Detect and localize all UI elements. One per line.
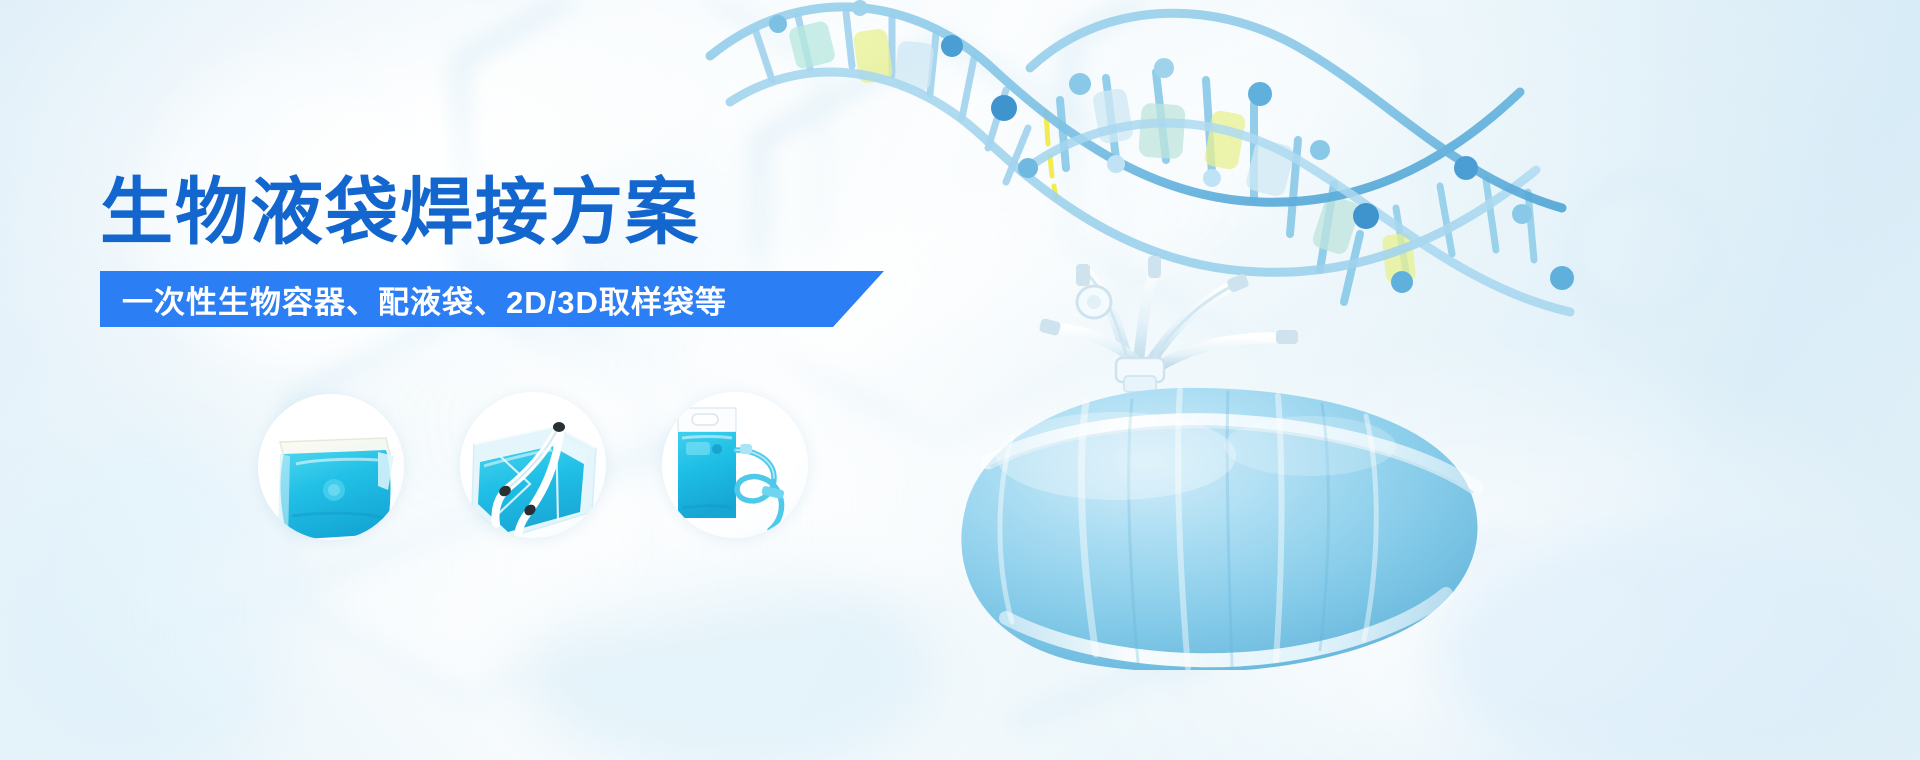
- page-title: 生物液袋焊接方案: [100, 176, 920, 249]
- product-thumbnail-sampling-bag-with-tubing[interactable]: [662, 392, 808, 538]
- subtitle-bar: 一次性生物容器、配液袋、2D/3D取样袋等: [100, 271, 884, 327]
- hero-banner: 生物液袋焊接方案 一次性生物容器、配液袋、2D/3D取样袋等: [0, 0, 1920, 760]
- product-thumbnail-2d-liquid-bag[interactable]: [258, 394, 404, 540]
- product-thumbnail-row: [258, 392, 828, 552]
- headline-block: 生物液袋焊接方案 一次性生物容器、配液袋、2D/3D取样袋等: [100, 176, 920, 327]
- product-thumbnail-3d-sampling-bag[interactable]: [460, 392, 606, 538]
- bioreactor-bag-image: [880, 250, 1520, 670]
- bokeh-blob: [0, 430, 300, 760]
- subtitle-text: 一次性生物容器、配液袋、2D/3D取样袋等: [100, 277, 727, 322]
- bokeh-blob: [520, 560, 940, 760]
